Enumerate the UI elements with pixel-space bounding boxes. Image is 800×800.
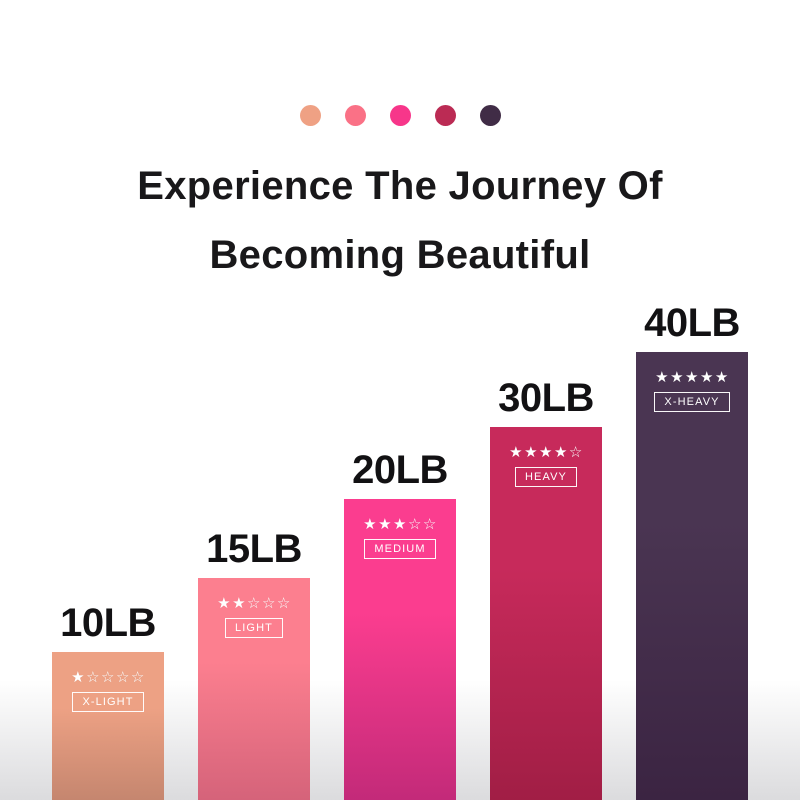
star-outline-icon: ☆ [101,670,115,685]
dot-x-heavy [480,105,501,126]
star-filled-icon: ★ [217,596,231,611]
resistance-level-badge: HEAVY [515,467,577,487]
resistance-level-badge: X-HEAVY [654,392,729,412]
star-filled-icon: ★ [509,445,523,460]
star-outline-icon: ☆ [262,596,276,611]
bar-content: ★★★★★X-HEAVY [636,370,748,412]
star-outline-icon: ☆ [277,596,291,611]
bar-weight-label: 20LB [344,448,456,493]
headline-line-1: Experience The Journey Of [137,164,662,208]
bar-group[interactable]: 15LB★★☆☆☆LIGHT [198,578,310,800]
resistance-level-badge: LIGHT [225,618,283,638]
star-rating: ★☆☆☆☆ [71,670,145,685]
star-filled-icon: ★ [232,596,246,611]
resistance-level-badge: MEDIUM [364,539,435,559]
bar-weight-label: 40LB [636,301,748,346]
star-filled-icon: ★ [378,517,392,532]
resistance-band-bar[interactable]: ★★★★★X-HEAVY [636,352,748,800]
dot-medium [390,105,411,126]
bar-content: ★★★☆☆MEDIUM [344,517,456,559]
bar-content: ★★★★☆HEAVY [490,445,602,487]
resistance-band-bar[interactable]: ★★☆☆☆LIGHT [198,578,310,800]
star-outline-icon: ☆ [408,517,422,532]
bar-group[interactable]: 40LB★★★★★X-HEAVY [636,352,748,800]
star-outline-icon: ☆ [569,445,583,460]
resistance-band-bar[interactable]: ★★★★☆HEAVY [490,427,602,800]
star-filled-icon: ★ [715,370,729,385]
star-filled-icon: ★ [670,370,684,385]
bar-group[interactable]: 20LB★★★☆☆MEDIUM [344,499,456,800]
resistance-level-badge: X-LIGHT [72,692,143,712]
star-rating: ★★☆☆☆ [217,596,291,611]
star-filled-icon: ★ [524,445,538,460]
star-outline-icon: ☆ [247,596,261,611]
bar-content: ★☆☆☆☆X-LIGHT [52,670,164,712]
star-filled-icon: ★ [685,370,699,385]
star-rating: ★★★★★ [655,370,729,385]
star-outline-icon: ☆ [86,670,100,685]
star-filled-icon: ★ [539,445,553,460]
bar-content: ★★☆☆☆LIGHT [198,596,310,638]
star-outline-icon: ☆ [116,670,130,685]
color-swatch-dot-row [0,105,800,126]
star-filled-icon: ★ [655,370,669,385]
bar-weight-label: 15LB [198,527,310,572]
bar-group[interactable]: 10LB★☆☆☆☆X-LIGHT [52,652,164,800]
star-filled-icon: ★ [363,517,377,532]
dot-x-light [300,105,321,126]
page-title: Experience The Journey Of Becoming Beaut… [0,152,800,290]
dot-heavy [435,105,456,126]
star-outline-icon: ☆ [423,517,437,532]
star-filled-icon: ★ [393,517,407,532]
star-filled-icon: ★ [554,445,568,460]
bar-weight-label: 30LB [490,376,602,421]
star-rating: ★★★★☆ [509,445,583,460]
product-infographic-poster: Experience The Journey Of Becoming Beaut… [0,0,800,800]
resistance-band-bar[interactable]: ★★★☆☆MEDIUM [344,499,456,800]
star-filled-icon: ★ [700,370,714,385]
dot-light [345,105,366,126]
star-rating: ★★★☆☆ [363,517,437,532]
bar-weight-label: 10LB [52,601,164,646]
resistance-band-bar[interactable]: ★☆☆☆☆X-LIGHT [52,652,164,800]
star-filled-icon: ★ [71,670,85,685]
bar-group[interactable]: 30LB★★★★☆HEAVY [490,427,602,800]
headline-line-2: Becoming Beautiful [0,221,800,290]
star-outline-icon: ☆ [131,670,145,685]
